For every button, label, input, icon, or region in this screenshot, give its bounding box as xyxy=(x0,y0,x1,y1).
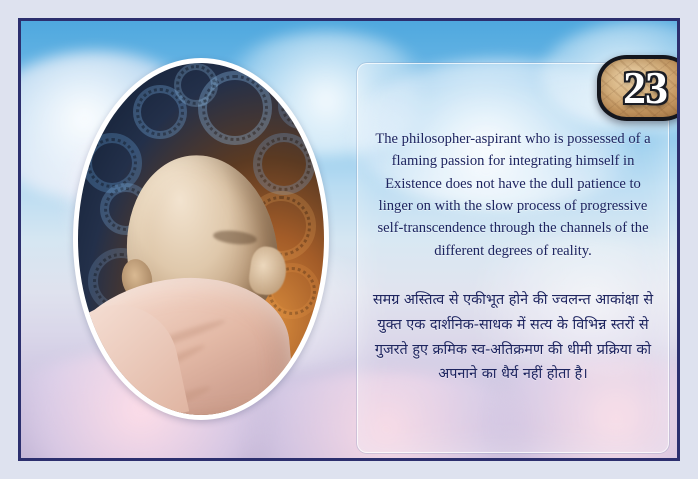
quote-poster: The philosopher-aspirant who is possesse… xyxy=(0,0,698,479)
saint-portrait-image xyxy=(78,63,324,415)
quote-number-badge: 23 xyxy=(597,55,680,121)
portrait-oval-frame xyxy=(73,58,329,420)
gear-icon xyxy=(174,63,218,107)
gear-icon xyxy=(133,85,187,139)
badge-number-label: 23 xyxy=(623,65,667,111)
gear-icon xyxy=(253,133,315,195)
quote-text-hindi: समग्र अस्तित्व से एकीभूत होने की ज्वलन्त… xyxy=(372,288,654,387)
poster-frame: The philosopher-aspirant who is possesse… xyxy=(18,18,680,461)
quote-text-english: The philosopher-aspirant who is possesse… xyxy=(374,128,652,262)
gear-icon xyxy=(198,71,272,145)
portrait-nose xyxy=(247,245,289,298)
quote-panel: The philosopher-aspirant who is possesse… xyxy=(357,63,669,453)
